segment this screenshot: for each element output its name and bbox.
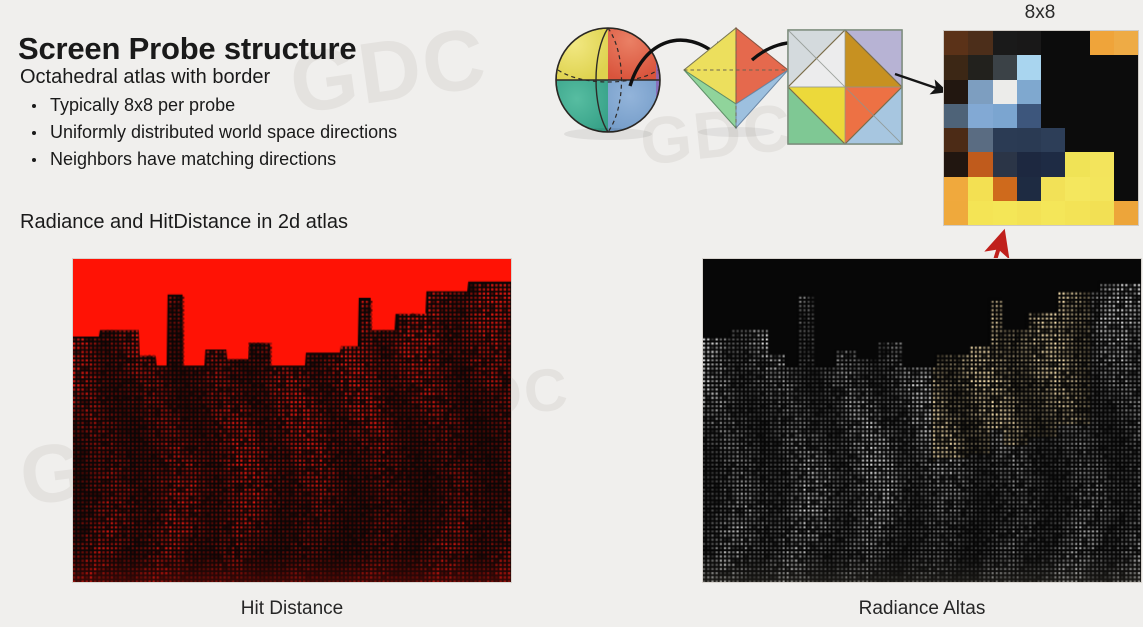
probe-pixel <box>1041 177 1065 201</box>
probe-pixel <box>1017 128 1041 152</box>
probe-pixel <box>1114 177 1138 201</box>
probe-pixel <box>1017 152 1041 176</box>
secondary-heading: Radiance and HitDistance in 2d atlas <box>20 211 348 234</box>
probe-pixel <box>1090 31 1114 55</box>
probe-pixel <box>968 104 992 128</box>
probe-pixel <box>968 177 992 201</box>
probe-pixel <box>944 104 968 128</box>
list-item: Neighbors have matching directions <box>22 146 397 173</box>
probe-pixel <box>1065 177 1089 201</box>
probe-pixel <box>1017 104 1041 128</box>
probe-pixel <box>1017 177 1041 201</box>
page-title: Screen Probe structure <box>18 31 356 67</box>
sphere-illustration <box>556 28 663 140</box>
probe-pixel <box>993 31 1017 55</box>
probe-pixel <box>968 55 992 79</box>
probe-8x8-grid <box>943 30 1139 226</box>
probe-pixel <box>1090 177 1114 201</box>
probe-pixel <box>993 152 1017 176</box>
slide-canvas: GDC GDC GDC GDC Screen Probe structure O… <box>0 0 1143 627</box>
probe-pixel <box>1065 104 1089 128</box>
probe-pixel <box>1090 80 1114 104</box>
probe-pixel <box>1041 152 1065 176</box>
probe-pixel <box>1090 55 1114 79</box>
radiance-atlas-caption: Radiance Altas <box>702 598 1142 620</box>
list-item: Typically 8x8 per probe <box>22 92 397 119</box>
probe-pixel <box>1017 31 1041 55</box>
probe-pixel <box>968 152 992 176</box>
hit-distance-caption: Hit Distance <box>72 598 512 620</box>
probe-pixel <box>1017 80 1041 104</box>
probe-pixel <box>1114 104 1138 128</box>
probe-pixel <box>968 128 992 152</box>
probe-pixel <box>1114 80 1138 104</box>
probe-grid-label: 8x8 <box>942 2 1138 24</box>
probe-pixel <box>1065 80 1089 104</box>
probe-pixel <box>944 152 968 176</box>
probe-pixel <box>1114 201 1138 225</box>
probe-pixel <box>944 177 968 201</box>
probe-pixel <box>1065 31 1089 55</box>
probe-pixel <box>1041 31 1065 55</box>
probe-pixel <box>1114 31 1138 55</box>
probe-pixel <box>1065 128 1089 152</box>
probe-pixel <box>944 80 968 104</box>
list-item: Uniformly distributed world space direct… <box>22 119 397 146</box>
probe-pixel <box>1065 55 1089 79</box>
probe-pixel <box>1041 104 1065 128</box>
probe-pixel <box>1065 201 1089 225</box>
probe-pixel <box>993 177 1017 201</box>
probe-pixel <box>1114 152 1138 176</box>
atlas-square-illustration <box>788 30 902 144</box>
probe-pixel <box>968 31 992 55</box>
probe-pixel <box>1090 128 1114 152</box>
probe-pixel <box>993 80 1017 104</box>
probe-pixel <box>1114 55 1138 79</box>
hit-distance-image <box>72 258 512 583</box>
probe-pixel <box>1090 104 1114 128</box>
probe-pixel <box>1041 201 1065 225</box>
probe-pixel <box>1041 80 1065 104</box>
probe-pixel <box>968 80 992 104</box>
probe-pixel <box>993 128 1017 152</box>
probe-pixel <box>1065 152 1089 176</box>
probe-pixel <box>944 55 968 79</box>
bullet-list: Typically 8x8 per probe Uniformly distri… <box>22 92 397 173</box>
probe-pixel <box>993 55 1017 79</box>
probe-pixel <box>1041 55 1065 79</box>
probe-pixel <box>944 128 968 152</box>
probe-pixel <box>1090 201 1114 225</box>
probe-pixel <box>944 31 968 55</box>
probe-pixel <box>1041 128 1065 152</box>
octahedral-mapping-diagram <box>548 8 928 158</box>
subheading: Octahedral atlas with border <box>20 66 270 89</box>
probe-pixel <box>1090 152 1114 176</box>
probe-pixel <box>1017 55 1041 79</box>
probe-pixel <box>993 104 1017 128</box>
radiance-atlas-image <box>702 258 1142 583</box>
probe-pixel <box>1114 128 1138 152</box>
